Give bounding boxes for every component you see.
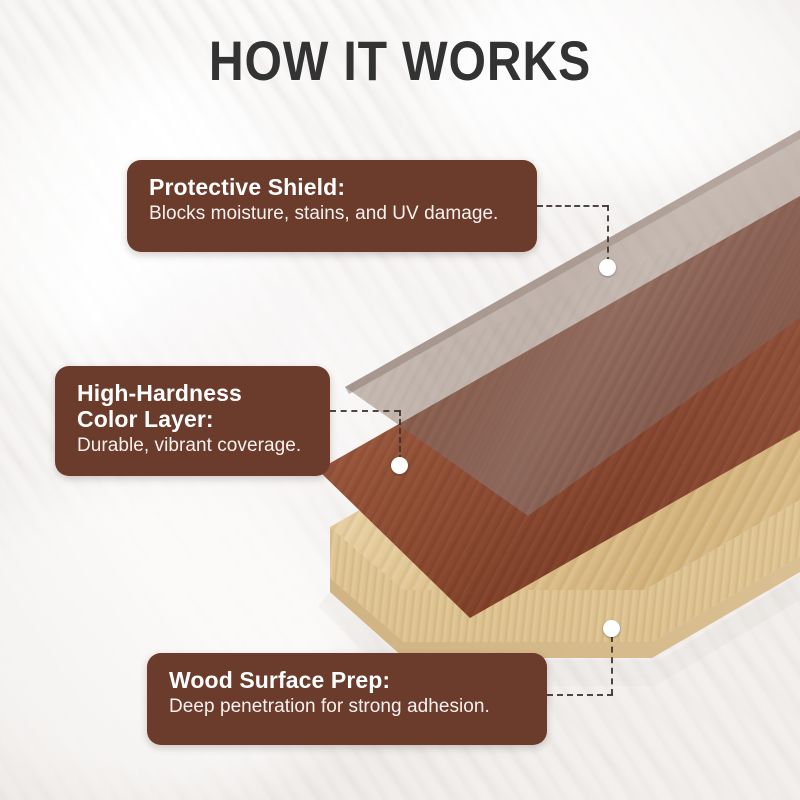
marker-dot-protective-shield — [599, 259, 616, 276]
callout-title: Wood Surface Prep: — [169, 667, 525, 693]
callout-title: Protective Shield: — [149, 174, 515, 200]
callout-title: High-Hardness Color Layer: — [77, 380, 308, 432]
marker-dot-wood-surface-prep — [603, 620, 620, 637]
leader-segment-horizontal — [330, 410, 400, 412]
infographic-canvas: HOW IT WORKS Protective Shield: Blocks m… — [0, 0, 800, 800]
marker-dot-color-layer — [391, 457, 408, 474]
page-title: HOW IT WORKS — [56, 28, 744, 93]
callout-wood-surface-prep: Wood Surface Prep: Deep penetration for … — [147, 653, 547, 745]
leader-segment-horizontal — [547, 694, 613, 696]
callout-protective-shield: Protective Shield: Blocks moisture, stai… — [127, 160, 537, 252]
leader-segment-vertical — [399, 410, 401, 461]
callout-color-layer: High-Hardness Color Layer: Durable, vibr… — [55, 366, 330, 476]
callout-description: Blocks moisture, stains, and UV damage. — [149, 203, 515, 226]
leader-segment-vertical — [611, 636, 613, 695]
callout-description: Durable, vibrant coverage. — [77, 435, 308, 458]
leader-segment-vertical — [607, 205, 609, 263]
leader-segment-horizontal — [537, 205, 608, 207]
callout-description: Deep penetration for strong adhesion. — [169, 696, 525, 719]
